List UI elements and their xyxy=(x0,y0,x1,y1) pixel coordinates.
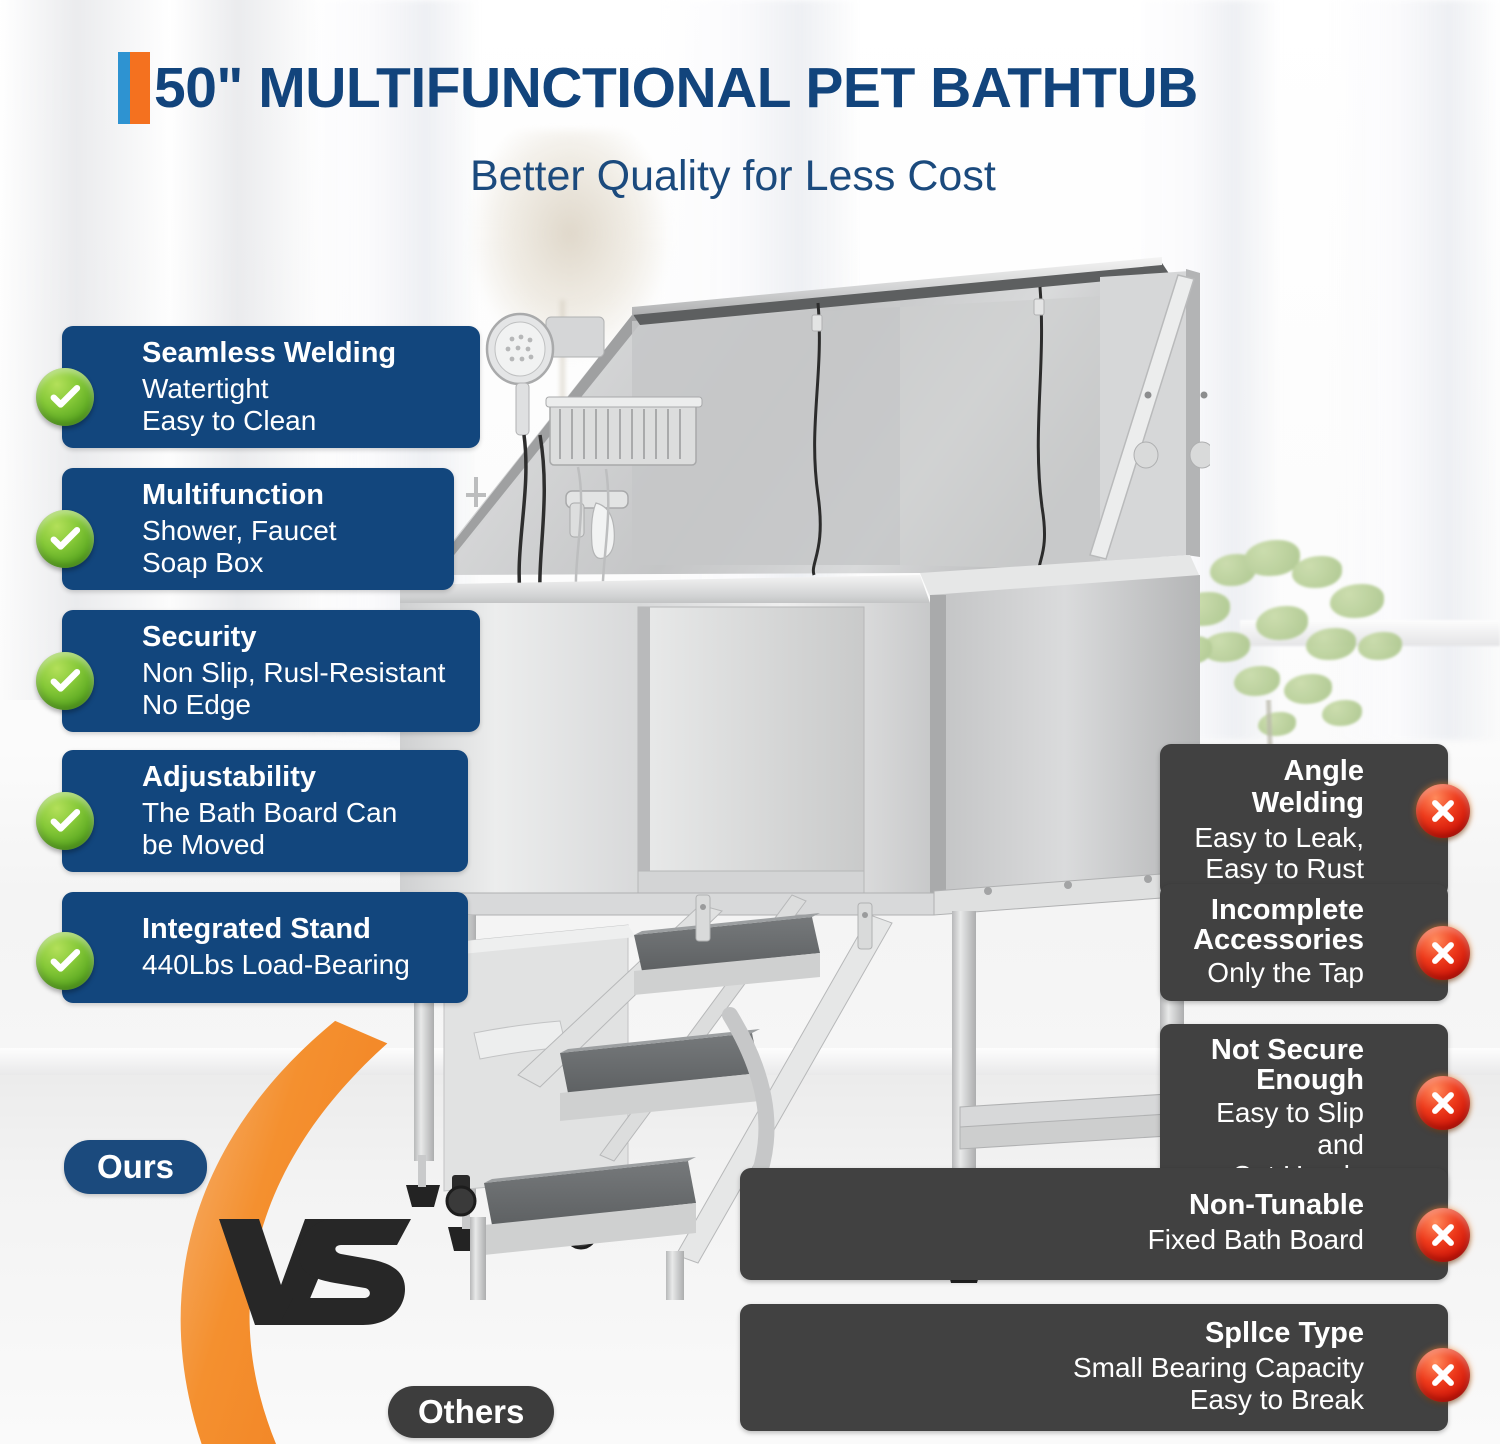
con-line: Fixed Bath Board xyxy=(758,1224,1364,1256)
pro-line: No Edge xyxy=(142,689,464,721)
pro-line: Easy to Clean xyxy=(142,405,464,437)
check-circle-icon xyxy=(36,510,94,568)
x-circle-icon xyxy=(1416,1348,1470,1402)
pro-card-multifunction[interactable]: Multifunction Shower, Faucet Soap Box xyxy=(62,468,454,590)
page-title: 50" MULTIFUNCTIONAL PET BATHTUB xyxy=(154,55,1198,121)
ours-label-pill: Ours xyxy=(64,1140,207,1194)
con-line: Small Bearing Capacity xyxy=(758,1352,1364,1384)
pro-title: Security xyxy=(142,622,464,654)
con-card-angle-welding[interactable]: Angle Welding Easy to Leak, Easy to Rust xyxy=(1160,744,1448,897)
pro-line: 440Lbs Load-Bearing xyxy=(142,949,452,981)
vs-graphic xyxy=(215,1205,415,1325)
con-card-spllce-type[interactable]: Spllce Type Small Bearing Capacity Easy … xyxy=(740,1304,1448,1431)
pro-card-integrated-stand[interactable]: Integrated Stand 440Lbs Load-Bearing xyxy=(62,892,468,1003)
check-circle-icon xyxy=(36,652,94,710)
x-circle-icon xyxy=(1416,1076,1470,1130)
pro-line: Soap Box xyxy=(142,547,438,579)
con-title: Angle Welding xyxy=(1178,756,1364,820)
con-title: Incomplete Accessories xyxy=(1178,896,1364,955)
con-line: Easy to Rust xyxy=(1178,853,1364,885)
con-line: Easy to Break xyxy=(758,1384,1364,1416)
pro-line: Non Slip, Rusl-Resistant xyxy=(142,657,464,689)
x-circle-icon xyxy=(1416,1208,1470,1262)
title-row: 50" MULTIFUNCTIONAL PET BATHTUB xyxy=(118,52,1198,124)
check-circle-icon xyxy=(36,932,94,990)
con-title: Not Secure Enough xyxy=(1178,1036,1364,1095)
page-subtitle: Better Quality for Less Cost xyxy=(470,152,996,201)
con-card-non-tunable[interactable]: Non-Tunable Fixed Bath Board xyxy=(740,1168,1448,1280)
pro-title: Seamless Welding xyxy=(142,338,464,370)
x-circle-icon xyxy=(1416,926,1470,980)
con-title: Non-Tunable xyxy=(758,1190,1364,1222)
accent-bar-blue xyxy=(118,52,130,124)
check-circle-icon xyxy=(36,792,94,850)
pro-line: Shower, Faucet xyxy=(142,515,438,547)
pro-line: Watertight xyxy=(142,373,464,405)
pro-title: Integrated Stand xyxy=(142,914,452,946)
pro-line: The Bath Board Can xyxy=(142,797,452,829)
con-line: Only the Tap xyxy=(1178,957,1364,989)
pro-card-adjustability[interactable]: Adjustability The Bath Board Can be Move… xyxy=(62,750,468,872)
x-circle-icon xyxy=(1416,784,1470,838)
others-label-pill: Others xyxy=(388,1386,554,1438)
pro-card-security[interactable]: Security Non Slip, Rusl-Resistant No Edg… xyxy=(62,610,480,732)
pro-line: be Moved xyxy=(142,829,452,861)
con-title: Spllce Type xyxy=(758,1318,1364,1350)
pro-title: Adjustability xyxy=(142,762,452,794)
pro-card-seamless-welding[interactable]: Seamless Welding Watertight Easy to Clea… xyxy=(62,326,480,448)
con-line: Easy to Slip and xyxy=(1178,1097,1364,1160)
con-line: Easy to Leak, xyxy=(1178,822,1364,854)
check-circle-icon xyxy=(36,368,94,426)
accent-bar-orange xyxy=(130,52,150,124)
con-card-incomplete-accessories[interactable]: Incomplete Accessories Only the Tap xyxy=(1160,884,1448,1001)
pro-title: Multifunction xyxy=(142,480,438,512)
product-photo-pet-bathtub xyxy=(400,255,1210,1300)
